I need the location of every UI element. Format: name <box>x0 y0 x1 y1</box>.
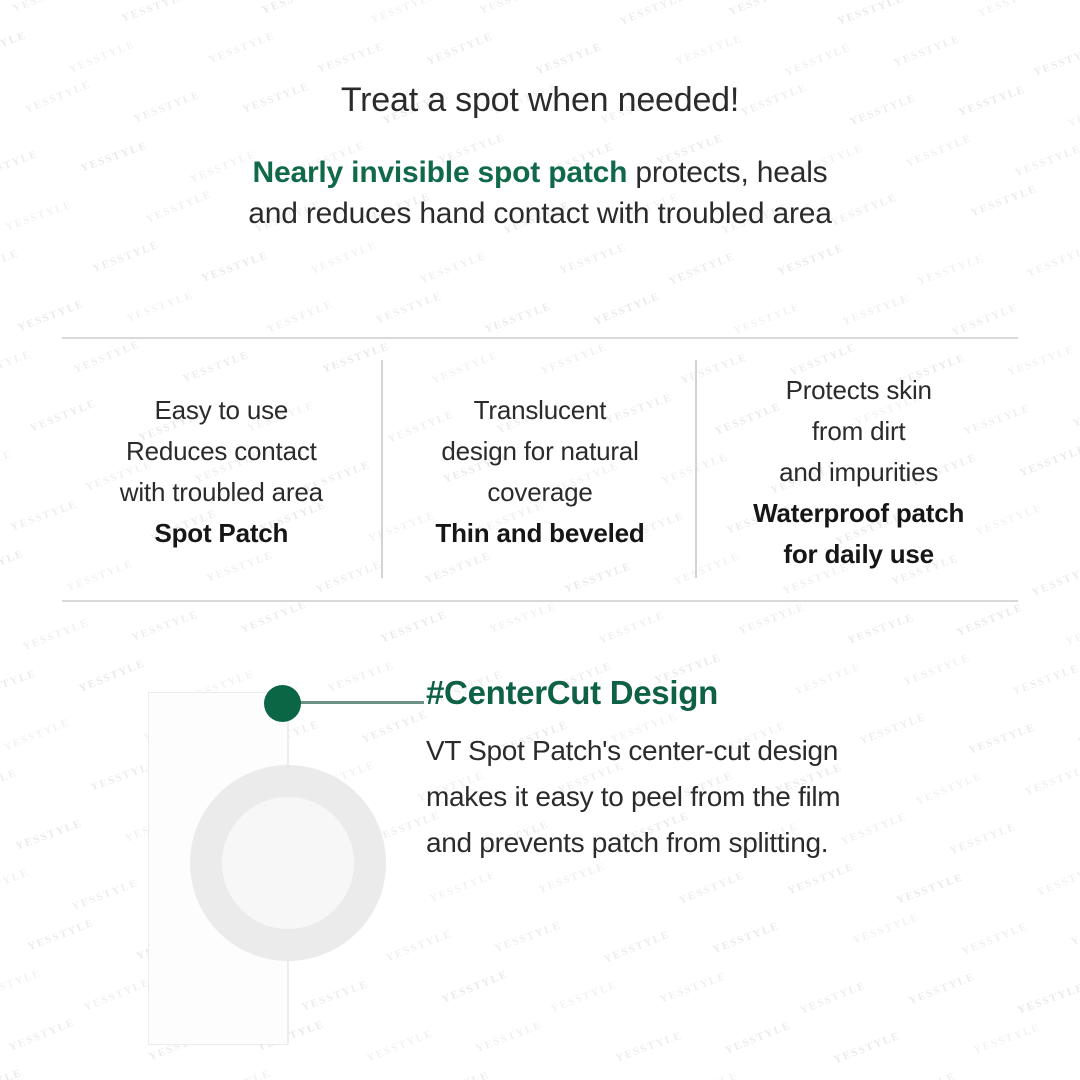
feature-columns: Easy to use Reduces contact with trouble… <box>62 360 1018 580</box>
watermark-text: YESSTYLE <box>783 41 853 78</box>
watermark-text: YESSTYLE <box>14 817 84 852</box>
watermark-text: YESSTYLE <box>916 252 986 287</box>
watermark-text: YESSTYLE <box>798 979 868 1016</box>
watermark-text: YESSTYLE <box>1032 43 1080 78</box>
watermark-text: YESSTYLE <box>1069 912 1080 948</box>
divider-top <box>62 337 1018 339</box>
watermark-text: YESSTYLE <box>670 1070 740 1080</box>
watermark-text: YESSTYLE <box>888 1070 958 1080</box>
centercut-title: #CenterCut Design <box>426 672 1026 714</box>
centercut-text-block: #CenterCut Design VT Spot Patch's center… <box>426 672 1026 866</box>
centercut-body-line: VT Spot Patch's center-cut design <box>426 728 1026 774</box>
feature-line: Reduces contact <box>126 431 317 472</box>
feature-line: from dirt <box>812 411 906 452</box>
watermark-text: YESSTYLE <box>976 0 1046 20</box>
watermark-text: YESSTYLE <box>493 919 563 954</box>
watermark-text: YESSTYLE <box>677 869 747 906</box>
watermark-text: YESSTYLE <box>67 38 137 75</box>
watermark-text: YESSTYLE <box>597 609 667 646</box>
watermark-text: YESSTYLE <box>841 292 911 327</box>
watermark-text: YESSTYLE <box>846 611 916 646</box>
headline-subblock: Nearly invisible spot patch protects, he… <box>0 152 1080 234</box>
watermark-text: YESSTYLE <box>851 911 921 946</box>
watermark-text: YESSTYLE <box>369 0 439 26</box>
headline-line-2-rest: protects, heals <box>627 156 827 189</box>
feature-column-easy-to-use: Easy to use Reduces contact with trouble… <box>62 360 381 580</box>
watermark-text: YESSTYLE <box>7 1016 77 1053</box>
watermark-text: YESSTYLE <box>0 1067 24 1080</box>
watermark-text: YESSTYLE <box>418 250 488 286</box>
watermark-text: YESSTYLE <box>1030 561 1080 598</box>
watermark-text: YESSTYLE <box>667 250 737 287</box>
watermark-text: YESSTYLE <box>16 298 86 334</box>
watermark-text: YESSTYLE <box>425 30 495 67</box>
watermark-text: YESSTYLE <box>618 0 688 28</box>
feature-line: design for natural <box>441 431 638 472</box>
feature-column-waterproof: Protects skin from dirt and impurities W… <box>699 360 1018 580</box>
watermark-text: YESSTYLE <box>379 609 449 645</box>
watermark-text: YESSTYLE <box>732 301 802 337</box>
watermark-text: YESSTYLE <box>239 598 309 635</box>
watermark-text: YESSTYLE <box>1018 443 1080 479</box>
watermark-text: YESSTYLE <box>0 866 31 903</box>
callout-connector-line <box>300 701 424 704</box>
centercut-body: VT Spot Patch's center-cut design makes … <box>426 728 1026 866</box>
watermark-text: YESSTYLE <box>0 448 14 484</box>
spot-patch-ring-inner <box>222 797 354 929</box>
watermark-text: YESSTYLE <box>960 920 1030 957</box>
watermark-text: YESSTYLE <box>727 0 797 18</box>
watermark-text: YESSTYLE <box>207 30 277 66</box>
watermark-text: YESSTYLE <box>776 242 846 278</box>
watermark-text: YESSTYLE <box>534 41 604 77</box>
watermark-text: YESSTYLE <box>549 979 619 1015</box>
watermark-text: YESSTYLE <box>0 967 43 1002</box>
watermark-text: YESSTYLE <box>0 247 21 284</box>
centercut-body-line: makes it easy to peel from the film <box>426 774 1026 820</box>
watermark-text: YESSTYLE <box>440 968 510 1005</box>
feature-strong-label: Waterproof patch <box>753 493 964 534</box>
watermark-text: YESSTYLE <box>1016 981 1080 1016</box>
feature-strong-label: Thin and beveled <box>435 513 644 554</box>
watermark-text: YESSTYLE <box>955 601 1025 638</box>
watermark-text: YESSTYLE <box>658 970 728 1005</box>
headline-line-3: and reduces hand contact with troubled a… <box>0 193 1080 234</box>
watermark-text: YESSTYLE <box>723 1019 793 1056</box>
watermark-text: YESSTYLE <box>130 608 200 643</box>
watermark-text: YESSTYLE <box>674 32 744 67</box>
callout-connector <box>120 660 440 740</box>
watermark-text: YESSTYLE <box>265 298 335 335</box>
watermark-text: YESSTYLE <box>602 928 672 965</box>
headline-block: Treat a spot when needed! Nearly invisib… <box>0 78 1080 234</box>
watermark-text: YESSTYLE <box>832 1030 902 1066</box>
watermark-text: YESSTYLE <box>478 0 548 17</box>
watermark-text: YESSTYLE <box>488 600 558 635</box>
watermark-text: YESSTYLE <box>1064 612 1080 648</box>
watermark-text: YESSTYLE <box>91 239 161 275</box>
watermark-text: YESSTYLE <box>972 1021 1042 1056</box>
headline-highlight: Nearly invisible spot patch <box>253 156 628 189</box>
watermark-text: YESSTYLE <box>895 871 965 906</box>
watermark-text: YESSTYLE <box>26 917 96 953</box>
feature-line: coverage <box>487 472 592 513</box>
watermark-text: YESSTYLE <box>309 239 379 276</box>
feature-line: and impurities <box>779 452 938 493</box>
watermark-text: YESSTYLE <box>474 1019 544 1055</box>
watermark-text: YESSTYLE <box>907 971 977 1007</box>
watermark-text: YESSTYLE <box>0 547 26 584</box>
watermark-text: YESSTYLE <box>950 301 1020 338</box>
watermark-text: YESSTYLE <box>558 241 628 276</box>
watermark-text: YESSTYLE <box>120 0 190 25</box>
feature-line: Easy to use <box>155 390 289 431</box>
watermark-text: YESSTYLE <box>711 920 781 956</box>
feature-strong-label: Spot Patch <box>154 513 288 554</box>
spot-patch-ring <box>190 765 386 961</box>
watermark-text: YESSTYLE <box>1035 861 1080 898</box>
divider-bottom <box>62 600 1018 602</box>
watermark-text: YESSTYLE <box>892 33 962 69</box>
feature-column-translucent: Translucent design for natural coverage … <box>381 360 700 580</box>
watermark-text: YESSTYLE <box>11 0 81 15</box>
watermark-text: YESSTYLE <box>0 29 28 64</box>
watermark-text: YESSTYLE <box>1076 711 1080 748</box>
feature-line: with troubled area <box>120 472 323 513</box>
centercut-body-line: and prevents patch from splitting. <box>426 820 1026 866</box>
watermark-text: YESSTYLE <box>786 861 856 897</box>
watermark-text: YESSTYLE <box>0 767 19 803</box>
watermark-text: YESSTYLE <box>2 716 72 753</box>
watermark-text: YESSTYLE <box>316 40 386 75</box>
watermark-text: YESSTYLE <box>125 289 195 324</box>
watermark-text: YESSTYLE <box>592 290 662 327</box>
headline-line-1: Treat a spot when needed! <box>0 78 1080 122</box>
feature-line: Translucent <box>474 390 607 431</box>
watermark-text: YESSTYLE <box>200 249 270 284</box>
watermark-text: YESSTYLE <box>1023 762 1080 798</box>
watermark-text: YESSTYLE <box>21 617 91 653</box>
callout-dot-icon <box>264 685 301 722</box>
headline-line-2: Nearly invisible spot patch protects, he… <box>0 152 1080 193</box>
watermark-text: YESSTYLE <box>1025 242 1080 279</box>
watermark-text: YESSTYLE <box>1071 392 1080 429</box>
watermark-text: YESSTYLE <box>374 290 444 326</box>
watermark-text: YESSTYLE <box>483 300 553 335</box>
product-detail-page: YESSTYLEYESSTYLEYESSTYLEYESSTYLEYESSTYLE… <box>0 0 1080 1080</box>
watermark-text: YESSTYLE <box>0 667 38 702</box>
watermark-text: YESSTYLE <box>260 0 330 17</box>
watermark-text: YESSTYLE <box>614 1029 684 1064</box>
feature-line: Protects skin <box>786 370 932 411</box>
watermark-text: YESSTYLE <box>737 601 807 637</box>
watermark-text: YESSTYLE <box>836 0 906 28</box>
feature-strong-label-2: for daily use <box>783 534 934 575</box>
watermark-text: YESSTYLE <box>0 348 33 383</box>
